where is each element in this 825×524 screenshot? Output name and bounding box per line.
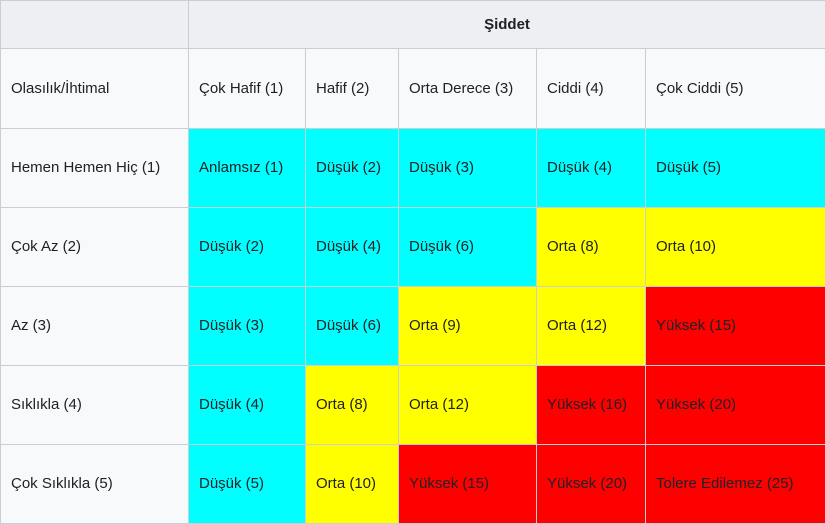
probability-row-header-1: Hemen Hemen Hiç (1) xyxy=(1,129,189,208)
matrix-header-row-columns: Olasılık/İhtimalÇok Hafif (1)Hafif (2)Or… xyxy=(1,49,825,129)
severity-column-header-2: Hafif (2) xyxy=(306,49,399,129)
risk-cell-r4-c2: Orta (8) xyxy=(306,366,399,445)
severity-column-header-4: Ciddi (4) xyxy=(537,49,646,129)
probability-row-header-2: Çok Az (2) xyxy=(1,208,189,287)
risk-cell-r1-c3: Düşük (3) xyxy=(399,129,537,208)
risk-cell-r2-c5: Orta (10) xyxy=(646,208,825,287)
risk-cell-r4-c1: Düşük (4) xyxy=(189,366,306,445)
risk-cell-r5-c1: Düşük (5) xyxy=(189,445,306,524)
severity-axis-title: Şiddet xyxy=(189,1,825,49)
probability-row-header-3: Az (3) xyxy=(1,287,189,366)
risk-cell-r3-c4: Orta (12) xyxy=(537,287,646,366)
risk-cell-r4-c5: Yüksek (20) xyxy=(646,366,825,445)
risk-cell-r3-c1: Düşük (3) xyxy=(189,287,306,366)
risk-cell-r5-c3: Yüksek (15) xyxy=(399,445,537,524)
risk-cell-r3-c5: Yüksek (15) xyxy=(646,287,825,366)
matrix-corner-cell xyxy=(1,1,189,49)
probability-axis-title: Olasılık/İhtimal xyxy=(1,49,189,129)
risk-cell-r1-c1: Anlamsız (1) xyxy=(189,129,306,208)
risk-cell-r4-c4: Yüksek (16) xyxy=(537,366,646,445)
risk-cell-r2-c3: Düşük (6) xyxy=(399,208,537,287)
matrix-header-row-severity: Şiddet xyxy=(1,1,825,49)
severity-column-header-3: Orta Derece (3) xyxy=(399,49,537,129)
matrix-row: Sıklıkla (4)Düşük (4)Orta (8)Orta (12)Yü… xyxy=(1,366,825,445)
severity-column-header-5: Çok Ciddi (5) xyxy=(646,49,825,129)
probability-row-header-5: Çok Sıklıkla (5) xyxy=(1,445,189,524)
probability-row-header-4: Sıklıkla (4) xyxy=(1,366,189,445)
risk-cell-r1-c2: Düşük (2) xyxy=(306,129,399,208)
risk-cell-r5-c5: Tolere Edilemez (25) xyxy=(646,445,825,524)
risk-cell-r2-c1: Düşük (2) xyxy=(189,208,306,287)
matrix-row: Hemen Hemen Hiç (1)Anlamsız (1)Düşük (2)… xyxy=(1,129,825,208)
risk-cell-r2-c2: Düşük (4) xyxy=(306,208,399,287)
risk-cell-r1-c4: Düşük (4) xyxy=(537,129,646,208)
risk-cell-r3-c2: Düşük (6) xyxy=(306,287,399,366)
severity-column-header-1: Çok Hafif (1) xyxy=(189,49,306,129)
matrix-row: Çok Az (2)Düşük (2)Düşük (4)Düşük (6)Ort… xyxy=(1,208,825,287)
risk-cell-r3-c3: Orta (9) xyxy=(399,287,537,366)
risk-cell-r4-c3: Orta (12) xyxy=(399,366,537,445)
risk-cell-r1-c5: Düşük (5) xyxy=(646,129,825,208)
risk-cell-r5-c4: Yüksek (20) xyxy=(537,445,646,524)
matrix-row: Az (3)Düşük (3)Düşük (6)Orta (9)Orta (12… xyxy=(1,287,825,366)
matrix-row: Çok Sıklıkla (5)Düşük (5)Orta (10)Yüksek… xyxy=(1,445,825,524)
risk-assessment-matrix: ŞiddetOlasılık/İhtimalÇok Hafif (1)Hafif… xyxy=(0,0,825,524)
risk-cell-r2-c4: Orta (8) xyxy=(537,208,646,287)
risk-cell-r5-c2: Orta (10) xyxy=(306,445,399,524)
